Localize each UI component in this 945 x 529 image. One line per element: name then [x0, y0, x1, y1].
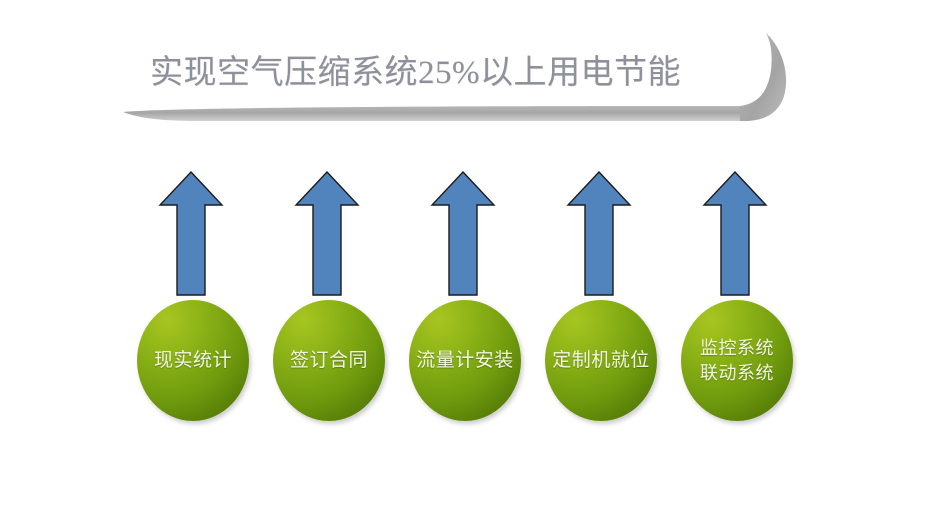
process-step-node[interactable]: 监控系统 联动系统: [681, 300, 793, 421]
up-arrow-icon: [296, 172, 358, 295]
up-arrow-icon: [568, 172, 630, 295]
process-step-label: 定制机就位: [552, 348, 650, 373]
process-step-node[interactable]: 定制机就位: [545, 300, 657, 421]
up-arrow-icon: [704, 172, 766, 295]
up-arrow-icon: [160, 172, 222, 295]
process-step-label: 流量计安装: [416, 348, 514, 373]
process-step-label: 现实统计: [154, 348, 232, 373]
process-step-node[interactable]: 签订合同: [273, 300, 385, 421]
up-arrow-icon: [432, 172, 494, 295]
process-step-node[interactable]: 流量计安装: [409, 300, 521, 421]
process-step-label: 签订合同: [290, 348, 368, 373]
process-step-node[interactable]: 现实统计: [137, 300, 249, 421]
arrows-layer: [0, 0, 945, 529]
process-step-label: 监控系统 联动系统: [700, 336, 774, 386]
process-step-row: 现实统计 签订合同 流量计安装 定制机就位 监控系统 联动系统: [137, 300, 817, 426]
slide-canvas: 实现空气压缩系统25%以上用电节能 现实统计 签订合同 流量计安装: [0, 0, 945, 529]
